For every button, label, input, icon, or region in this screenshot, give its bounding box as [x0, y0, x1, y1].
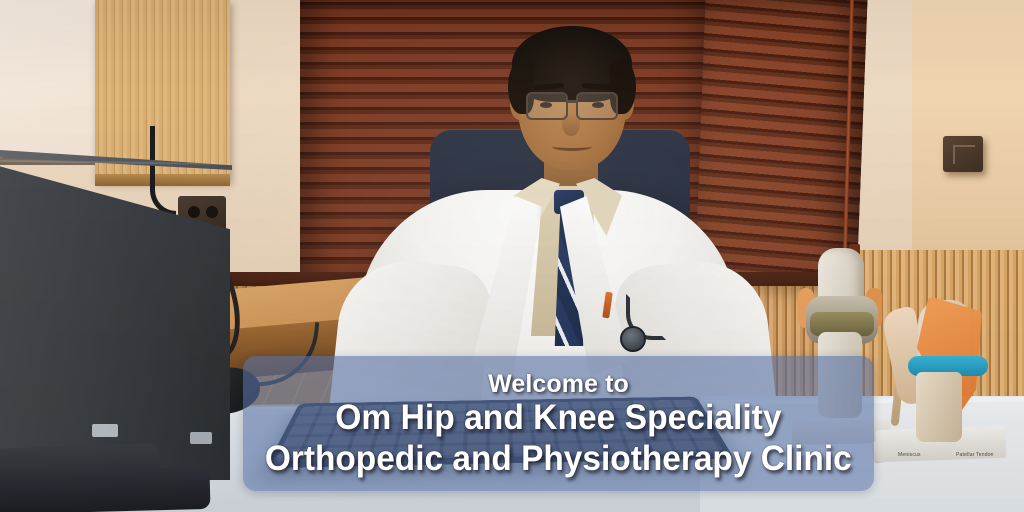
- power-cable: [150, 126, 176, 216]
- clinic-welcome-banner-image: Meniscus Patellar Tendon Welcome to Om H…: [0, 0, 1024, 512]
- welcome-banner: Welcome to Om Hip and Knee Speciality Or…: [243, 356, 874, 491]
- knee-anatomy-tibia: [916, 372, 962, 442]
- socket-hole: [188, 206, 200, 218]
- monitor-base: [0, 467, 211, 512]
- welcome-text: Welcome to: [488, 371, 629, 398]
- mouth: [552, 142, 592, 151]
- socket-hole: [206, 206, 218, 218]
- light-switch-rocker: [953, 145, 975, 164]
- knee-anatomy-label-right: Patellar Tendon: [956, 452, 994, 458]
- eyeglasses-bridge: [568, 100, 578, 103]
- knee-anatomy-label-left: Meniscus: [898, 452, 921, 458]
- monitor-sticker: [92, 424, 118, 437]
- eyeglasses-right-lens: [576, 92, 618, 120]
- monitor-sticker: [190, 432, 212, 444]
- clinic-name-line-1: Om Hip and Knee Speciality: [335, 399, 781, 437]
- nose: [562, 112, 580, 136]
- stethoscope-chestpiece: [620, 326, 646, 352]
- clinic-name-line-2: Orthopedic and Physiotherapy Clinic: [265, 440, 852, 478]
